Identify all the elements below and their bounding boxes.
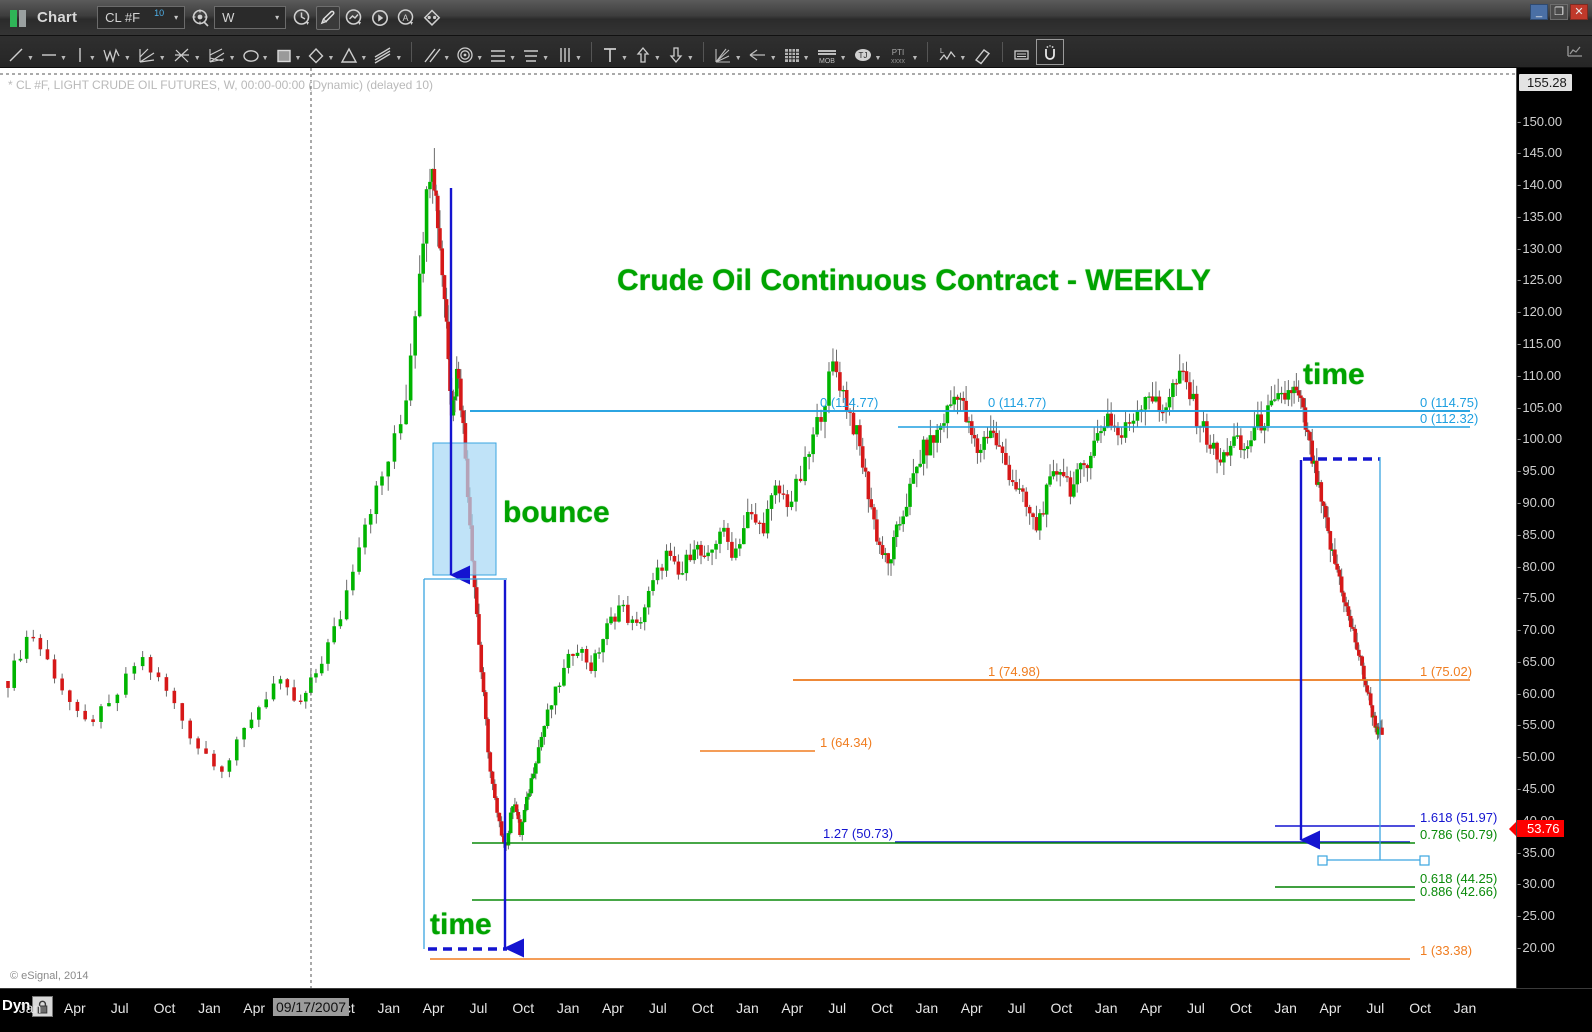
fib-fan-tool[interactable]: ▼ xyxy=(710,39,744,65)
time-tick: Jan xyxy=(19,1000,42,1016)
tj-tool[interactable]: TJ ▼ xyxy=(850,39,884,65)
fib-1-74-98-label: 1 (74.98) xyxy=(988,664,1040,679)
svg-text:PTI: PTI xyxy=(892,48,904,57)
copyright-label: © eSignal, 2014 xyxy=(10,970,88,982)
price-tick: -45.00 xyxy=(1517,781,1555,796)
chevron-down-icon[interactable]: ▼ xyxy=(27,55,34,62)
price-tick: -80.00 xyxy=(1517,559,1555,574)
chevron-down-icon[interactable]: ▼ xyxy=(60,55,67,62)
price-tick: -90.00 xyxy=(1517,495,1555,510)
time-tick: Jan xyxy=(916,1000,939,1016)
chevron-down-icon[interactable]: ▼ xyxy=(575,55,582,62)
horizontal-line-tool[interactable]: ▼ xyxy=(37,39,69,65)
chevron-down-icon[interactable]: ▼ xyxy=(194,55,201,62)
bounce-annotation: bounce xyxy=(503,496,610,530)
grid-tool[interactable]: ▼ xyxy=(780,39,812,65)
time-tick: Jul xyxy=(469,1000,487,1016)
alerts-button[interactable]: A xyxy=(394,6,418,30)
ellipse-tool[interactable]: ▼ xyxy=(239,39,271,65)
time-tick: Jan xyxy=(1274,1000,1297,1016)
price-tick: -50.00 xyxy=(1517,749,1555,764)
vertical-bars-tool[interactable]: ▼ xyxy=(552,39,584,65)
svg-text:MOB: MOB xyxy=(819,58,835,65)
window-buttons: _ ❐ ✕ xyxy=(1530,4,1588,20)
time-tick: Jan xyxy=(1454,1000,1477,1016)
price-tick: -70.00 xyxy=(1517,622,1555,637)
arrow-marker-tool[interactable]: ▼ xyxy=(745,39,779,65)
fib-0-112-32-label: 0 (112.32) xyxy=(1420,411,1478,426)
trendline-tool[interactable]: ▼ xyxy=(4,39,36,65)
time-tick: Apr xyxy=(781,1000,803,1016)
price-tick: -145.00 xyxy=(1517,145,1562,160)
fib-1-64-34-label: 1 (64.34) xyxy=(820,735,872,750)
chevron-down-icon[interactable]: ▼ xyxy=(229,55,236,62)
price-tick: -125.00 xyxy=(1517,272,1562,287)
svg-text:A: A xyxy=(403,13,409,23)
price-tick: -115.00 xyxy=(1517,336,1561,351)
chevron-down-icon[interactable]: ▼ xyxy=(124,55,131,62)
playback-button[interactable] xyxy=(368,6,392,30)
fib-1-33-38-label: 1 (33.38) xyxy=(1420,943,1472,958)
time-tick: Jan xyxy=(557,1000,580,1016)
price-tick: -85.00 xyxy=(1517,527,1555,542)
time-tick: Oct xyxy=(512,1000,534,1016)
chevron-down-icon[interactable]: ▼ xyxy=(840,55,847,62)
price-tick: -110.00 xyxy=(1517,368,1561,383)
down-arrow-tool[interactable]: ▼ xyxy=(664,39,696,65)
price-tick: -60.00 xyxy=(1517,686,1555,701)
time-annotation-right: time xyxy=(1303,358,1365,392)
time-tick: Apr xyxy=(64,1000,86,1016)
time-tick: Jul xyxy=(1008,1000,1026,1016)
fib-1-75-02-label: 1 (75.02) xyxy=(1420,664,1472,679)
price-tick: -30.00 xyxy=(1517,876,1555,891)
chevron-down-icon[interactable]: ▾ xyxy=(270,13,284,22)
time-tick: Jul xyxy=(1366,1000,1384,1016)
pitchfork-tool[interactable]: ▼ xyxy=(204,39,238,65)
chevron-down-icon[interactable]: ▼ xyxy=(687,55,694,62)
tags-button[interactable] xyxy=(420,6,444,30)
interval-input[interactable]: W ▾ xyxy=(214,6,286,29)
time-tick: Oct xyxy=(1230,1000,1252,1016)
time-tick: Jan xyxy=(198,1000,221,1016)
parallel-ray-tool[interactable]: ▼ xyxy=(418,39,452,65)
svg-text:TJ: TJ xyxy=(858,51,867,60)
cycles-tool[interactable]: ▼ xyxy=(453,39,485,65)
gann-tool[interactable]: ▼ xyxy=(169,39,203,65)
chevron-down-icon[interactable]: ▾ xyxy=(169,13,183,22)
time-tick: Jul xyxy=(828,1000,846,1016)
chevron-down-icon[interactable]: ▼ xyxy=(803,55,810,62)
toolbar-divider xyxy=(703,42,704,62)
candlestick-series xyxy=(6,148,1384,851)
price-tick: -65.00 xyxy=(1517,654,1555,669)
chevron-down-icon[interactable]: ▼ xyxy=(875,55,882,62)
time-tick: Oct xyxy=(1409,1000,1431,1016)
toolbar-divider xyxy=(411,42,412,62)
time-tick: Apr xyxy=(423,1000,445,1016)
drawing-toolbar: ▼ ▼ ▼ ▼ ▼ ▼ ▼ ▼ xyxy=(0,36,1592,68)
chevron-down-icon[interactable]: ▼ xyxy=(542,55,549,62)
toolbar-divider xyxy=(591,42,592,62)
chevron-down-icon[interactable]: ▼ xyxy=(262,55,269,62)
undo-drawing-button[interactable] xyxy=(1036,39,1064,65)
top-price-tag: 155.28 xyxy=(1519,74,1572,91)
triangle-tool[interactable]: ▼ xyxy=(337,39,369,65)
price-tick: -35.00 xyxy=(1517,845,1555,860)
fib-0-114-75-right-label: 0 (114.75) xyxy=(1420,395,1478,410)
time-template-button[interactable] xyxy=(290,6,314,30)
chevron-down-icon[interactable]: ▼ xyxy=(443,55,450,62)
chevron-down-icon[interactable]: ▼ xyxy=(621,55,628,62)
time-tick: Jul xyxy=(1187,1000,1205,1016)
price-tick: -105.00 xyxy=(1517,400,1562,415)
diamond-tool[interactable]: ▼ xyxy=(304,39,336,65)
toolbar-divider xyxy=(1002,42,1003,62)
time-tick: Apr xyxy=(961,1000,983,1016)
time-annotation-left: time xyxy=(430,908,492,942)
symbol-search-button[interactable] xyxy=(189,6,213,30)
symbol-value: CL #F xyxy=(98,10,140,25)
price-tick: -20.00 xyxy=(1517,940,1555,955)
axis-settings-icon[interactable] xyxy=(1566,43,1584,64)
time-tick: Apr xyxy=(243,1000,265,1016)
time-axis[interactable]: Dyn JanAprJulOctJanAprJulOctJanAprJulOct… xyxy=(0,988,1592,1032)
time-tick: Jan xyxy=(736,1000,759,1016)
chart-logo-icon xyxy=(10,9,30,27)
chevron-down-icon[interactable]: ▼ xyxy=(159,55,166,62)
chevron-down-icon[interactable]: ▼ xyxy=(654,55,661,62)
chevron-down-icon[interactable]: ▼ xyxy=(509,55,516,62)
toolbar-divider xyxy=(927,42,928,62)
price-tick: -120.00 xyxy=(1517,304,1562,319)
fib-0-114-77-left-label: 0 (114.77) xyxy=(820,395,878,410)
chevron-down-icon[interactable]: ▼ xyxy=(395,55,402,62)
price-tick: -135.00 xyxy=(1517,209,1562,224)
fib-1-27-50-73-label: 1.27 (50.73) xyxy=(823,826,893,841)
time-tick: Apr xyxy=(1140,1000,1162,1016)
projection-handle-right[interactable] xyxy=(1420,856,1429,865)
price-tick: -130.00 xyxy=(1517,241,1562,256)
time-tick: Oct xyxy=(154,1000,176,1016)
drawing-mode-button[interactable] xyxy=(316,6,340,30)
symbol-input[interactable]: CL #F 10 ▾ xyxy=(97,6,185,29)
chevron-down-icon[interactable]: ▼ xyxy=(770,55,777,62)
regression-tool[interactable]: L ▼ xyxy=(934,39,968,65)
rectangle-tool[interactable]: ▼ xyxy=(272,39,304,65)
vertical-line-tool[interactable]: ▼ xyxy=(70,39,98,65)
time-tick: Oct xyxy=(871,1000,893,1016)
up-arrow-tool[interactable]: ▼ xyxy=(631,39,663,65)
last-price-tag: 53.76 xyxy=(1517,820,1564,837)
mob-tool[interactable]: MOB ▼ xyxy=(813,39,849,65)
time-tick: Jul xyxy=(649,1000,667,1016)
time-tick: Oct xyxy=(1050,1000,1072,1016)
chart-application-window: Chart CL #F 10 ▾ W ▾ xyxy=(0,0,1592,1032)
projection-handle-left[interactable] xyxy=(1318,856,1327,865)
chevron-down-icon[interactable]: ▼ xyxy=(89,55,96,62)
time-tick: Jan xyxy=(1095,1000,1118,1016)
pti-tool[interactable]: PTI xxxx ▼ xyxy=(884,39,920,65)
annotations-list-button[interactable] xyxy=(1009,39,1035,65)
chart-title-annotation: Crude Oil Continuous Contract - WEEKLY xyxy=(617,264,1211,298)
fib-level-lines xyxy=(430,411,1470,959)
eraser-tool[interactable] xyxy=(969,39,995,65)
price-tick: -75.00 xyxy=(1517,590,1555,605)
fib-0-786-50-79-label: 0.786 (50.79) xyxy=(1420,827,1497,842)
time-tick: Apr xyxy=(1320,1000,1342,1016)
close-button[interactable]: ✕ xyxy=(1570,4,1588,20)
window-title: Chart xyxy=(37,9,77,26)
bounce-highlight-box[interactable] xyxy=(433,443,496,575)
svg-text:L: L xyxy=(940,48,944,55)
text-tool[interactable]: ▼ xyxy=(598,39,630,65)
time-tick: Apr xyxy=(602,1000,624,1016)
chevron-down-icon[interactable]: ▼ xyxy=(959,55,966,62)
parallel-channel-tool[interactable]: ▼ xyxy=(370,39,404,65)
maximize-button[interactable]: ❐ xyxy=(1550,4,1568,20)
chevron-down-icon[interactable]: ▼ xyxy=(295,55,302,62)
studies-button[interactable] xyxy=(342,6,366,30)
fib-1-618-51-97-label: 1.618 (51.97) xyxy=(1420,810,1497,825)
chevron-down-icon[interactable]: ▼ xyxy=(476,55,483,62)
chevron-down-icon[interactable]: ▼ xyxy=(327,55,334,62)
time-tick: Oct xyxy=(692,1000,714,1016)
price-tick: -25.00 xyxy=(1517,908,1555,923)
title-bar: Chart CL #F 10 ▾ W ▾ xyxy=(0,0,1592,36)
polyline-tool[interactable]: ▼ xyxy=(99,39,133,65)
chart-canvas xyxy=(0,68,1516,988)
price-tick: -150.00 xyxy=(1517,114,1562,129)
price-tick: -55.00 xyxy=(1517,717,1555,732)
fib-0-114-77-mid-label: 0 (114.77) xyxy=(988,395,1046,410)
price-tick: -95.00 xyxy=(1517,463,1555,478)
fib-0-886-42-66-label: 0.886 (42.66) xyxy=(1420,884,1497,899)
chevron-down-icon[interactable]: ▼ xyxy=(360,55,367,62)
price-tick: -140.00 xyxy=(1517,177,1562,192)
chevron-down-icon[interactable]: ▼ xyxy=(735,55,742,62)
chart-plot-area[interactable]: 0 (114.77)0 (114.77)0 (114.75)0 (112.32)… xyxy=(0,68,1516,988)
chart-header-label: * CL #F, LIGHT CRUDE OIL FUTURES, W, 00:… xyxy=(8,78,433,92)
crosshair-date-tag: 09/17/2007 xyxy=(273,998,349,1016)
chart-container: 0 (114.77)0 (114.77)0 (114.75)0 (112.32)… xyxy=(0,68,1592,1032)
time-tick: Jul xyxy=(111,1000,129,1016)
speed-lines-tool[interactable]: ▼ xyxy=(519,39,551,65)
svg-text:xxxx: xxxx xyxy=(891,58,906,65)
price-axis[interactable]: 155.28 -150.00-145.00-140.00-135.00-130.… xyxy=(1516,68,1592,988)
time-tick: Jan xyxy=(377,1000,400,1016)
interval-value: W xyxy=(215,10,234,25)
price-tick: -100.00 xyxy=(1517,431,1562,446)
fib-retracement-tool[interactable]: ▼ xyxy=(134,39,168,65)
fib-timezone-tool[interactable]: ▼ xyxy=(486,39,518,65)
chevron-down-icon[interactable]: ▼ xyxy=(911,55,918,62)
symbol-superscript: 10 xyxy=(154,8,164,18)
minimize-button[interactable]: _ xyxy=(1530,4,1548,20)
